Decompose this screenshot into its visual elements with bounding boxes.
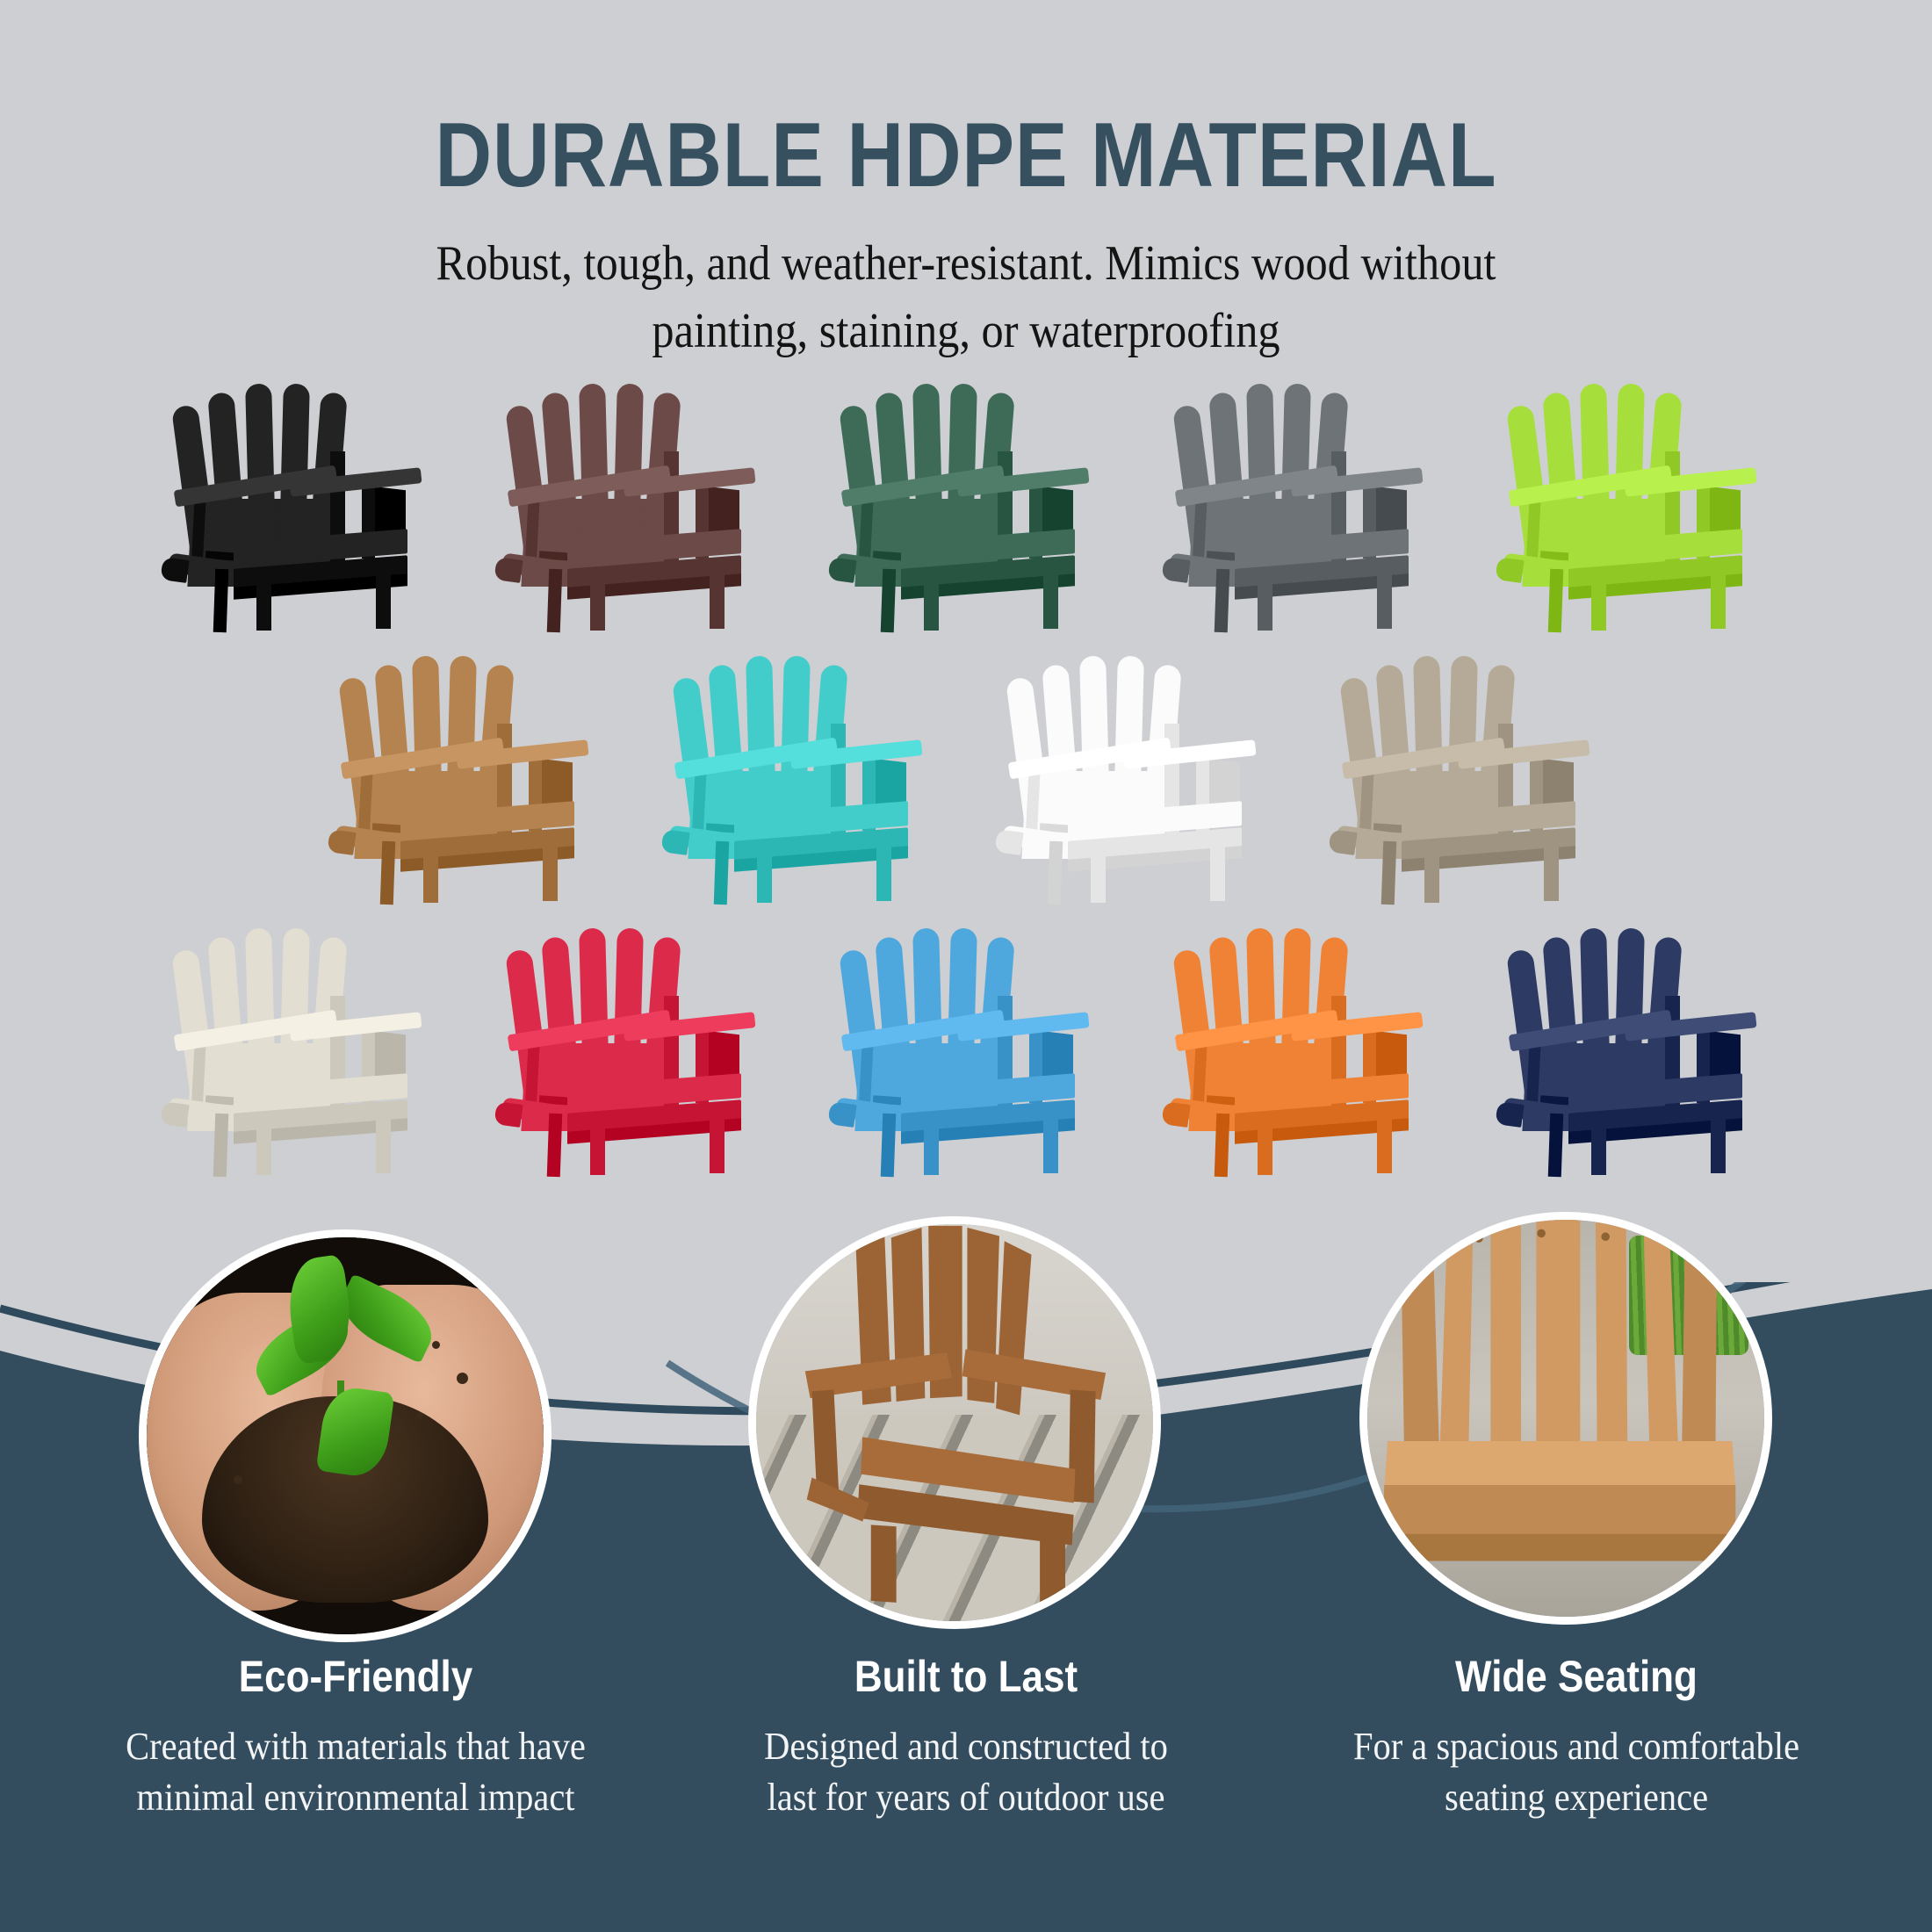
back-slat bbox=[1280, 928, 1311, 1092]
chair-back-slats bbox=[1523, 367, 1677, 547]
chair-front-leg-left bbox=[1424, 847, 1439, 903]
back-slat bbox=[1246, 928, 1277, 1092]
chair-rear-leg bbox=[213, 1114, 229, 1177]
chair-back-slats bbox=[855, 367, 1010, 547]
chair-front-leg-left bbox=[757, 847, 772, 903]
chair-swatch-black[interactable] bbox=[158, 367, 439, 631]
back-slat bbox=[279, 384, 310, 548]
back-slat bbox=[1614, 384, 1645, 548]
chair-back-slats bbox=[1189, 367, 1344, 547]
back-slat bbox=[1114, 656, 1144, 820]
feature-photo-eco-friendly bbox=[139, 1229, 551, 1642]
chair-swatch-lime-green[interactable] bbox=[1493, 367, 1774, 631]
chair-front-leg-left bbox=[1258, 1119, 1272, 1175]
chair-rear-leg bbox=[547, 1114, 563, 1177]
chair-swatch-gray[interactable] bbox=[1159, 367, 1440, 631]
feature-photo-wide-seating bbox=[1359, 1212, 1772, 1625]
chair-rear-leg bbox=[213, 569, 229, 632]
chair-back-slats bbox=[1356, 639, 1510, 819]
chair-front-leg-left bbox=[924, 1119, 939, 1175]
chair-on-patio-image bbox=[756, 1224, 1153, 1621]
chair-runner-tip bbox=[494, 1101, 523, 1128]
chair-front-leg-left bbox=[590, 574, 605, 631]
chair-front-leg-right bbox=[543, 847, 558, 901]
back-slat bbox=[1413, 656, 1444, 820]
back-slat bbox=[1580, 384, 1611, 548]
chair-runner-tip bbox=[660, 829, 689, 855]
back-slat bbox=[947, 928, 977, 1092]
back-slat bbox=[579, 384, 609, 548]
chair-front-leg-right bbox=[376, 574, 391, 629]
page-subtitle: Robust, tough, and weather-resistant. Mi… bbox=[97, 230, 1835, 365]
closeup-chair-illustration bbox=[1367, 1220, 1764, 1617]
chair-runner-tip bbox=[494, 557, 523, 583]
chair-swatch-teak[interactable] bbox=[325, 639, 606, 903]
chair-swatch-white[interactable] bbox=[992, 639, 1273, 903]
chair-color-grid bbox=[0, 367, 1932, 1245]
chair-front-leg-right bbox=[1377, 574, 1392, 629]
back-slat bbox=[1079, 656, 1110, 820]
feature-heading: Built to Last bbox=[711, 1651, 1222, 1702]
chair-runner-tip bbox=[1495, 1101, 1524, 1128]
chair-front-leg-right bbox=[1043, 1119, 1058, 1173]
chair-front-leg-left bbox=[1258, 574, 1272, 631]
page-title: DURABLE HDPE MATERIAL bbox=[135, 104, 1797, 208]
chair-front-leg-left bbox=[924, 574, 939, 631]
chair-rear-leg bbox=[1215, 569, 1230, 632]
chair-swatch-dark-green[interactable] bbox=[825, 367, 1107, 631]
chair-swatch-turquoise[interactable] bbox=[659, 639, 940, 903]
chair-swatch-red[interactable] bbox=[492, 912, 773, 1175]
back-slat bbox=[613, 928, 644, 1092]
chair-runner-tip bbox=[160, 557, 189, 583]
chair-front-leg-left bbox=[423, 847, 438, 903]
chair-front-leg-left bbox=[1591, 1119, 1606, 1175]
chair-swatch-taupe[interactable] bbox=[1326, 639, 1607, 903]
closeup-seat-image bbox=[1367, 1220, 1764, 1617]
feature-heading: Eco-Friendly bbox=[101, 1651, 611, 1702]
chair-row-2 bbox=[0, 639, 1932, 903]
chair-front-leg-right bbox=[1544, 847, 1559, 901]
chair-back-slats bbox=[188, 912, 342, 1092]
feature-body-line-2: seating experience bbox=[1309, 1772, 1842, 1823]
chair-front-leg-right bbox=[876, 847, 891, 901]
chair-front-leg-right bbox=[1043, 574, 1058, 629]
chair-front-leg-right bbox=[1377, 1119, 1392, 1173]
chair-rear-leg bbox=[1548, 569, 1564, 632]
back-slat bbox=[1447, 656, 1478, 820]
chair-runner-tip bbox=[827, 557, 856, 583]
chair-front-leg-right bbox=[1711, 1119, 1726, 1173]
chair-runner-tip bbox=[827, 1101, 856, 1128]
feature-column-built-to-last: Built to Last Designed and constructed t… bbox=[676, 1651, 1256, 1823]
feature-body-line-1: Created with materials that have bbox=[89, 1721, 622, 1772]
feature-column-eco-friendly: Eco-Friendly Created with materials that… bbox=[66, 1651, 645, 1823]
chair-runner-tip bbox=[994, 829, 1023, 855]
chair-rear-leg bbox=[881, 569, 897, 632]
chair-swatch-wine-red[interactable] bbox=[492, 367, 773, 631]
back-slat bbox=[245, 928, 276, 1092]
chair-front-leg-left bbox=[256, 1119, 271, 1175]
back-slat bbox=[245, 384, 276, 548]
chair-rear-leg bbox=[380, 841, 396, 905]
chair-back-slats bbox=[688, 639, 843, 819]
chair-back-slats bbox=[855, 912, 1010, 1092]
feature-body-line-1: Designed and constructed to bbox=[699, 1721, 1232, 1772]
back-slat bbox=[446, 656, 477, 820]
chair-swatch-orange[interactable] bbox=[1159, 912, 1440, 1175]
feature-body-line-1: For a spacious and comfortable bbox=[1309, 1721, 1842, 1772]
chair-rear-leg bbox=[1048, 841, 1063, 905]
chair-rear-leg bbox=[1215, 1114, 1230, 1177]
back-slat bbox=[1614, 928, 1645, 1092]
chair-front-leg-left bbox=[1091, 847, 1106, 903]
chair-front-leg-right bbox=[376, 1119, 391, 1173]
back-slat bbox=[780, 656, 811, 820]
soil-seedling-image bbox=[147, 1237, 544, 1634]
chair-rear-leg bbox=[1381, 841, 1397, 905]
chair-runner-tip bbox=[327, 829, 356, 855]
chair-swatch-ivory[interactable] bbox=[158, 912, 439, 1175]
feature-body-line-2: last for years of outdoor use bbox=[699, 1772, 1232, 1823]
chair-front-leg-right bbox=[1210, 847, 1225, 901]
feature-heading: Wide Seating bbox=[1322, 1651, 1832, 1702]
feature-photo-built-to-last bbox=[748, 1216, 1161, 1629]
chair-front-leg-right bbox=[710, 1119, 724, 1173]
chair-front-leg-right bbox=[710, 574, 724, 629]
chair-back-slats bbox=[1523, 912, 1677, 1092]
back-slat bbox=[1246, 384, 1277, 548]
feature-column-wide-seating: Wide Seating For a spacious and comforta… bbox=[1287, 1651, 1866, 1823]
chair-swatch-light-blue[interactable] bbox=[825, 912, 1107, 1175]
chair-rear-leg bbox=[1548, 1114, 1564, 1177]
chair-back-slats bbox=[188, 367, 342, 547]
back-slat bbox=[412, 656, 443, 820]
feature-body-line-2: minimal environmental impact bbox=[89, 1772, 622, 1823]
back-slat bbox=[613, 384, 644, 548]
header-section: DURABLE HDPE MATERIAL Robust, tough, and… bbox=[0, 0, 1932, 351]
chair-front-leg-left bbox=[590, 1119, 605, 1175]
subtitle-line-2: painting, staining, or waterproofing bbox=[97, 298, 1835, 365]
feature-body: For a spacious and comfortable seating e… bbox=[1309, 1721, 1842, 1823]
chair-rear-leg bbox=[714, 841, 730, 905]
chair-front-leg-left bbox=[256, 574, 271, 631]
patio-chair-illustration bbox=[756, 1224, 1153, 1621]
chair-back-slats bbox=[1022, 639, 1177, 819]
chair-back-slats bbox=[522, 912, 676, 1092]
chair-front-leg-left bbox=[1591, 574, 1606, 631]
back-slat bbox=[1280, 384, 1311, 548]
back-slat bbox=[279, 928, 310, 1092]
chair-rear-leg bbox=[547, 569, 563, 632]
chair-runner-tip bbox=[160, 1101, 189, 1128]
chair-back-slats bbox=[522, 367, 676, 547]
chair-rear-leg bbox=[881, 1114, 897, 1177]
feature-body: Designed and constructed to last for yea… bbox=[699, 1721, 1232, 1823]
chair-swatch-navy-blue[interactable] bbox=[1493, 912, 1774, 1175]
chair-back-slats bbox=[355, 639, 509, 819]
feature-body: Created with materials that have minimal… bbox=[89, 1721, 622, 1823]
back-slat bbox=[1580, 928, 1611, 1092]
back-slat bbox=[746, 656, 776, 820]
back-slat bbox=[912, 928, 943, 1092]
chair-runner-tip bbox=[1495, 557, 1524, 583]
chair-row-3 bbox=[0, 912, 1932, 1175]
chair-runner-tip bbox=[1161, 1101, 1190, 1128]
chair-runner-tip bbox=[1161, 557, 1190, 583]
chair-runner-tip bbox=[1328, 829, 1357, 855]
subtitle-line-1: Robust, tough, and weather-resistant. Mi… bbox=[97, 230, 1835, 298]
back-slat bbox=[947, 384, 977, 548]
dirt-speck bbox=[432, 1341, 440, 1349]
dirt-speck bbox=[457, 1373, 468, 1384]
chair-back-slats bbox=[1189, 912, 1344, 1092]
back-slat bbox=[579, 928, 609, 1092]
back-slat bbox=[912, 384, 943, 548]
chair-row-1 bbox=[0, 367, 1932, 631]
chair-front-leg-right bbox=[1711, 574, 1726, 629]
